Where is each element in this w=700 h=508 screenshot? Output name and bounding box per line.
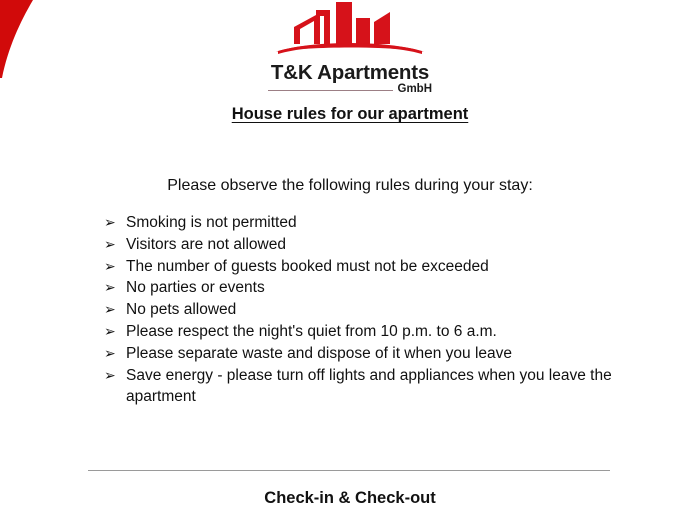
house-rules-list: ➢Smoking is not permitted➢Visitors are n… [104, 212, 664, 408]
arrow-bullet-icon: ➢ [104, 277, 126, 299]
section-divider [88, 470, 610, 471]
list-item-label: Save energy - please turn off lights and… [126, 365, 664, 409]
brand-legal-form: GmbH [393, 84, 433, 96]
arrow-bullet-icon: ➢ [104, 321, 126, 343]
list-item: ➢Save energy - please turn off lights an… [104, 365, 664, 409]
arrow-bullet-icon: ➢ [104, 343, 126, 365]
arrow-bullet-icon: ➢ [104, 212, 126, 234]
section-heading-check-in-out: Check-in & Check-out [0, 489, 700, 508]
list-item: ➢The number of guests booked must not be… [104, 256, 664, 278]
list-item: ➢Please respect the night's quiet from 1… [104, 321, 664, 343]
arrow-bullet-icon: ➢ [104, 256, 126, 278]
list-item-label: Visitors are not allowed [126, 234, 664, 256]
list-item: ➢No pets allowed [104, 299, 664, 321]
intro-text: Please observe the following rules durin… [0, 177, 700, 195]
arrow-bullet-icon: ➢ [104, 299, 126, 321]
arrow-bullet-icon: ➢ [104, 365, 126, 387]
list-item-label: Please respect the night's quiet from 10… [126, 321, 664, 343]
page-title: House rules for our apartment [0, 105, 700, 124]
brand-logo: T&K Apartments GmbH [0, 0, 700, 99]
buildings-skyline-icon [274, 0, 426, 60]
list-item: ➢No parties or events [104, 277, 664, 299]
arrow-bullet-icon: ➢ [104, 234, 126, 256]
list-item-label: Please separate waste and dispose of it … [126, 343, 664, 365]
list-item-label: The number of guests booked must not be … [126, 256, 664, 278]
list-item: ➢Visitors are not allowed [104, 234, 664, 256]
list-item-label: No pets allowed [126, 299, 664, 321]
list-item-label: Smoking is not permitted [126, 212, 664, 234]
list-item: ➢Please separate waste and dispose of it… [104, 343, 664, 365]
brand-wordmark: T&K Apartments [0, 62, 700, 84]
list-item-label: No parties or events [126, 277, 664, 299]
list-item: ➢Smoking is not permitted [104, 212, 664, 234]
